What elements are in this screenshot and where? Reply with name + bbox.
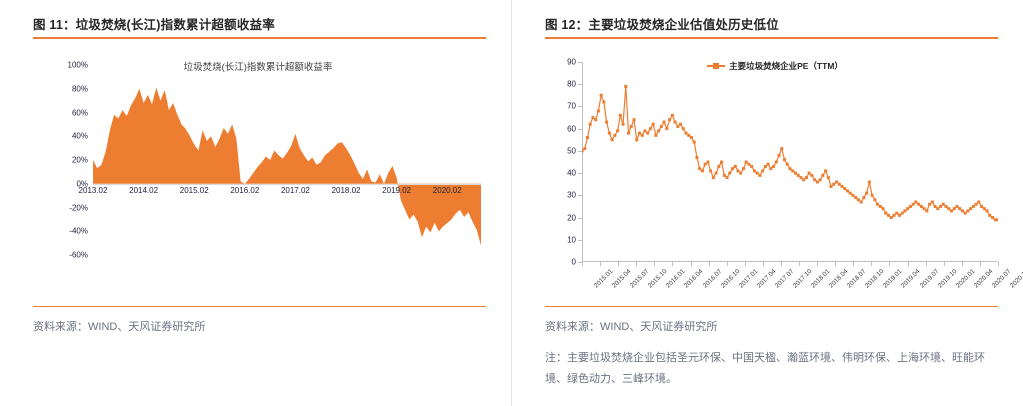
chart-right-x-tick (889, 262, 890, 266)
figure-12-footer-rule (545, 306, 998, 307)
chart-right-x-tick (745, 262, 746, 266)
chart-right-x-tick-label: 2016.07 (701, 268, 723, 290)
chart-left-y-tick-label: 80% (48, 84, 88, 93)
chart-left-x-tick-label: 2020.02 (433, 186, 462, 195)
chart-right-x-tick (709, 262, 710, 266)
chart-left-y-tick-label: 100% (48, 61, 88, 70)
chart-right-plot-area: 90807060504030201002015.012015.042015.07… (582, 62, 998, 262)
chart-right-y-tick-label: 90 (550, 58, 576, 67)
panel-figure-11: 图 11：垃圾焚烧(长江)指数累计超额收益率 垃圾焚烧(长江)指数累计超额收益率… (0, 0, 511, 406)
figure-12-title-text: 主要垃圾焚烧企业估值处历史低位 (588, 18, 779, 32)
chart-right-line-series (582, 62, 998, 262)
chart-right-x-tick-label: 2015.01 (593, 268, 615, 290)
chart-right-y-tick-label: 0 (550, 258, 576, 267)
chart-right-y-tick (578, 218, 582, 219)
chart-right-x-tick (926, 262, 927, 266)
chart-right-x-tick (691, 262, 692, 266)
chart-right-x-tick (618, 262, 619, 266)
figure-12-note: 注：主要垃圾焚烧企业包括圣元环保、中国天楹、瀚蓝环境、伟明环保、上海环境、旺能环… (545, 348, 1003, 390)
chart-left-x-tick-label: 2018.02 (332, 186, 361, 195)
chart-right-x-tick-label: 2019.07 (918, 268, 940, 290)
figure-pair-page: 图 11：垃圾焚烧(长江)指数累计超额收益率 垃圾焚烧(长江)指数累计超额收益率… (0, 0, 1023, 406)
chart-right-x-tick (871, 262, 872, 266)
chart-right-x-tick (799, 262, 800, 266)
chart-right-x-tick (727, 262, 728, 266)
chart-right-x-tick (654, 262, 655, 266)
chart-left-y-tick-label: 40% (48, 132, 88, 141)
chart-right-x-tick (600, 262, 601, 266)
chart-left-area-series (93, 65, 481, 255)
chart-right-y-tick-label: 20 (550, 213, 576, 222)
chart-right-y-tick (578, 62, 582, 63)
figure-11-source: 资料来源：WIND、天风证券研究所 (33, 318, 205, 334)
chart-right-y-tick-label: 40 (550, 169, 576, 178)
chart-left-y-tick-label: -20% (48, 203, 88, 212)
chart-left-x-tick-label: 2017.02 (281, 186, 310, 195)
chart-left-excess-return: 垃圾焚烧(长江)指数累计超额收益率 100%80%60%40%20%0%-20%… (33, 52, 483, 307)
chart-right-x-tick (944, 262, 945, 266)
chart-right-y-tick-label: 80 (550, 80, 576, 89)
chart-right-y-tick-label: 70 (550, 102, 576, 111)
chart-right-x-tick-label: 2016.04 (683, 268, 705, 290)
figure-12-label: 图 12： (545, 18, 588, 32)
chart-right-x-tick (817, 262, 818, 266)
chart-right-x-tick (636, 262, 637, 266)
chart-right-x-tick (908, 262, 909, 266)
chart-left-y-tick-label: -40% (48, 227, 88, 236)
chart-left-zero-line (93, 184, 481, 185)
chart-right-x-tick (763, 262, 764, 266)
chart-left-y-tick-label: 60% (48, 108, 88, 117)
chart-right-y-tick (578, 195, 582, 196)
chart-right-x-tick-label: 2019.04 (900, 268, 922, 290)
chart-right-x-tick (998, 262, 999, 266)
figure-11-title: 图 11：垃圾焚烧(长江)指数累计超额收益率 (33, 14, 481, 33)
chart-right-x-tick (582, 262, 583, 266)
figure-11-title-rule (33, 37, 486, 39)
chart-right-x-tick-label: 2019.01 (882, 268, 904, 290)
chart-left-plot-area: 100%80%60%40%20%0%-20%-40%-60%2013.02201… (93, 65, 481, 255)
chart-right-y-tick (578, 106, 582, 107)
chart-left-y-tick-label: -60% (48, 251, 88, 260)
chart-right-x-tick-label: 2016.01 (665, 268, 687, 290)
panel-figure-12: 图 12：主要垃圾焚烧企业估值处历史低位 主要垃圾焚烧企业PE（TTM） 908… (512, 0, 1023, 406)
chart-right-x-tick (781, 262, 782, 266)
chart-right-y-tick (578, 173, 582, 174)
chart-right-x-tick (853, 262, 854, 266)
chart-right-x-tick (962, 262, 963, 266)
chart-left-x-tick-label: 2019.02 (382, 186, 411, 195)
chart-right-y-tick-label: 30 (550, 191, 576, 200)
chart-right-y-tick-label: 10 (550, 235, 576, 244)
figure-12-title-rule (545, 37, 998, 39)
figure-12-source: 资料来源：WIND、天风证券研究所 (545, 318, 717, 334)
chart-right-y-tick (578, 240, 582, 241)
chart-right-y-tick-label: 50 (550, 146, 576, 155)
chart-left-x-tick-label: 2015.02 (180, 186, 209, 195)
figure-12-title: 图 12：主要垃圾焚烧企业估值处历史低位 (545, 14, 993, 33)
figure-11-title-text: 垃圾焚烧(长江)指数累计超额收益率 (76, 18, 275, 32)
chart-right-pe-ttm: 主要垃圾焚烧企业PE（TTM） 90807060504030201002015.… (540, 52, 1010, 310)
chart-left-x-tick-label: 2013.02 (79, 186, 108, 195)
chart-right-x-tick (672, 262, 673, 266)
chart-left-x-tick-label: 2016.02 (230, 186, 259, 195)
chart-right-y-tick (578, 129, 582, 130)
chart-right-y-tick-label: 60 (550, 124, 576, 133)
chart-right-y-tick (578, 84, 582, 85)
figure-11-footer-rule (33, 306, 486, 307)
chart-left-y-tick-label: 20% (48, 156, 88, 165)
chart-right-y-tick (578, 151, 582, 152)
figure-11-label: 图 11： (33, 18, 76, 32)
chart-right-x-tick (980, 262, 981, 266)
chart-right-x-tick (835, 262, 836, 266)
chart-left-x-tick-label: 2014.02 (129, 186, 158, 195)
